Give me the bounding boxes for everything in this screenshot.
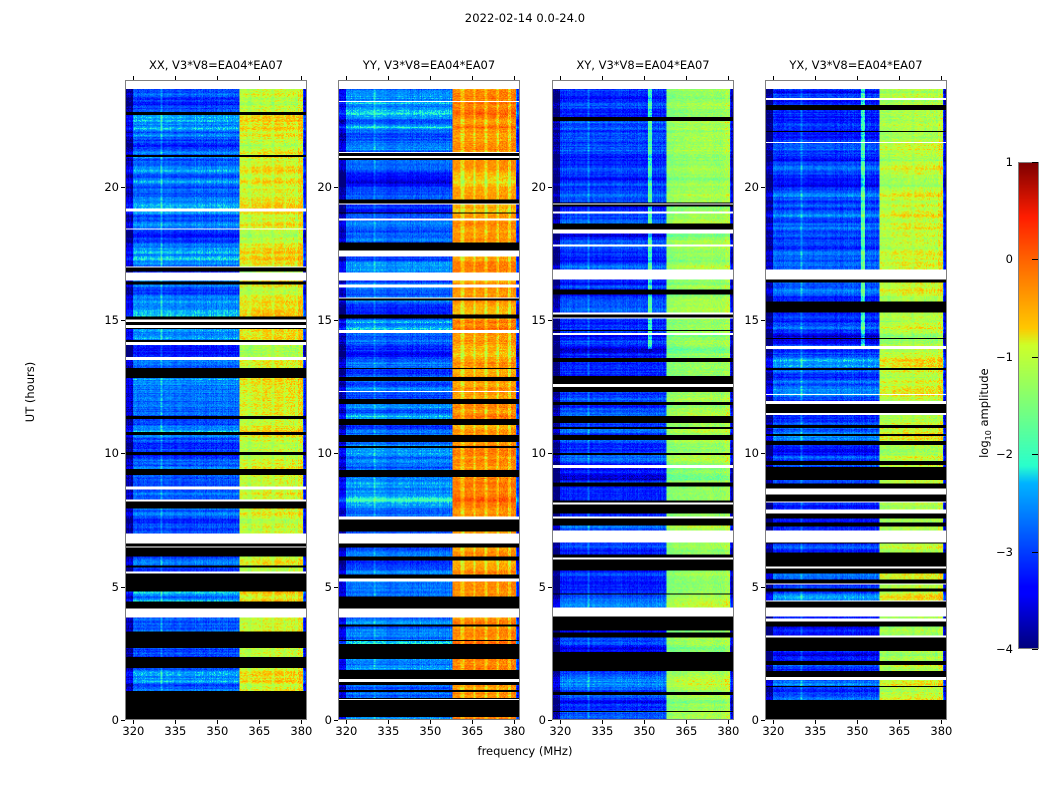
spectrogram-panel-yy[interactable] xyxy=(338,80,520,720)
x-tick-label-p2-365: 365 xyxy=(666,724,706,738)
x-tick-mark xyxy=(259,720,260,724)
spectrogram-image-yy xyxy=(339,81,519,719)
panel-title-xy: XY, V3*V8=EA04*EA07 xyxy=(552,58,734,72)
y-tick-mark xyxy=(121,587,125,588)
spectrogram-image-xy xyxy=(553,81,733,719)
x-tick-mark xyxy=(899,720,900,724)
x-tick-mark xyxy=(560,720,561,724)
y-tick-label-p2-15: 15 xyxy=(516,313,546,327)
y-tick-label-p0-15: 15 xyxy=(89,313,119,327)
y-tick-mark xyxy=(121,453,125,454)
x-tick-mark xyxy=(430,76,431,80)
x-tick-mark xyxy=(388,76,389,80)
x-tick-label-p1-320: 320 xyxy=(326,724,366,738)
figure-canvas: 2022-02-14 0.0-24.0 XX, V3*V8=EA04*EA07 … xyxy=(0,0,1050,800)
x-tick-mark xyxy=(514,720,515,724)
x-tick-label-p1-335: 335 xyxy=(368,724,408,738)
x-tick-mark xyxy=(686,720,687,724)
spectrogram-image-xx xyxy=(126,81,306,719)
x-tick-mark xyxy=(259,76,260,80)
x-tick-mark xyxy=(472,720,473,724)
x-tick-label-p1-350: 350 xyxy=(410,724,450,738)
colorbar-tick-label-4: −3 xyxy=(983,545,1013,559)
x-tick-mark xyxy=(857,76,858,80)
colorbar-tick-label-3: −2 xyxy=(983,447,1013,461)
spectrogram-panel-xy[interactable] xyxy=(552,80,734,720)
x-tick-label-p0-320: 320 xyxy=(113,724,153,738)
x-tick-mark xyxy=(133,76,134,80)
colorbar-gradient xyxy=(1019,163,1038,648)
y-tick-label-p3-15: 15 xyxy=(729,313,759,327)
x-tick-mark xyxy=(857,720,858,724)
spectrogram-image-yx xyxy=(766,81,946,719)
x-tick-label-p1-365: 365 xyxy=(452,724,492,738)
x-tick-mark xyxy=(602,76,603,80)
colorbar-tick-mark xyxy=(1032,357,1038,358)
x-tick-mark xyxy=(472,76,473,80)
x-tick-mark xyxy=(728,76,729,80)
y-tick-label-p1-15: 15 xyxy=(302,313,332,327)
y-tick-mark xyxy=(548,187,552,188)
x-tick-mark xyxy=(388,720,389,724)
y-tick-label-p0-5: 5 xyxy=(89,580,119,594)
y-tick-label-p0-10: 10 xyxy=(89,446,119,460)
y-tick-mark xyxy=(548,720,552,721)
x-tick-mark xyxy=(217,76,218,80)
y-tick-mark xyxy=(761,587,765,588)
x-tick-mark xyxy=(644,76,645,80)
x-tick-mark xyxy=(686,76,687,80)
x-tick-mark xyxy=(815,76,816,80)
colorbar-tick-label-5: −4 xyxy=(983,642,1013,656)
y-tick-mark xyxy=(548,587,552,588)
x-tick-label-p2-380: 380 xyxy=(708,724,748,738)
x-tick-mark xyxy=(346,720,347,724)
x-tick-mark xyxy=(175,76,176,80)
spectrogram-panel-xx[interactable] xyxy=(125,80,307,720)
colorbar-tick-label-1: 0 xyxy=(983,252,1013,266)
y-tick-label-p3-5: 5 xyxy=(729,580,759,594)
x-tick-mark xyxy=(941,720,942,724)
y-tick-label-p3-20: 20 xyxy=(729,180,759,194)
panel-title-xx: XX, V3*V8=EA04*EA07 xyxy=(125,58,307,72)
colorbar-tick-label-0: 1 xyxy=(983,155,1013,169)
y-axis-label: UT (hours) xyxy=(23,332,37,452)
y-tick-mark xyxy=(761,453,765,454)
y-tick-mark xyxy=(761,187,765,188)
colorbar[interactable] xyxy=(1018,162,1039,649)
colorbar-tick-mark xyxy=(1032,259,1038,260)
x-axis-label: frequency (MHz) xyxy=(0,744,1050,758)
x-tick-mark xyxy=(602,720,603,724)
y-tick-mark xyxy=(334,720,338,721)
x-tick-label-p3-350: 350 xyxy=(837,724,877,738)
x-tick-mark xyxy=(941,76,942,80)
x-tick-label-p3-335: 335 xyxy=(795,724,835,738)
x-tick-label-p3-365: 365 xyxy=(879,724,919,738)
x-tick-label-p0-350: 350 xyxy=(197,724,237,738)
y-tick-label-p1-20: 20 xyxy=(302,180,332,194)
x-tick-mark xyxy=(728,720,729,724)
colorbar-tick-mark xyxy=(1032,454,1038,455)
x-tick-label-p0-335: 335 xyxy=(155,724,195,738)
x-tick-mark xyxy=(560,76,561,80)
colorbar-tick-mark xyxy=(1032,162,1038,163)
x-tick-label-p2-335: 335 xyxy=(582,724,622,738)
y-tick-label-p1-5: 5 xyxy=(302,580,332,594)
colorbar-label: log10 amplitude xyxy=(977,343,993,483)
x-tick-mark xyxy=(133,720,134,724)
y-tick-mark xyxy=(121,720,125,721)
figure-suptitle: 2022-02-14 0.0-24.0 xyxy=(0,11,1050,25)
colorbar-tick-label-2: −1 xyxy=(983,350,1013,364)
x-tick-mark xyxy=(815,720,816,724)
x-tick-mark xyxy=(217,720,218,724)
y-tick-label-p2-10: 10 xyxy=(516,446,546,460)
y-tick-mark xyxy=(334,320,338,321)
panel-title-yy: YY, V3*V8=EA04*EA07 xyxy=(338,58,520,72)
x-tick-mark xyxy=(301,76,302,80)
x-tick-mark xyxy=(301,720,302,724)
x-tick-label-p3-380: 380 xyxy=(921,724,961,738)
y-tick-mark xyxy=(761,320,765,321)
x-tick-label-p0-380: 380 xyxy=(281,724,321,738)
y-tick-label-p3-10: 10 xyxy=(729,446,759,460)
x-tick-label-p2-350: 350 xyxy=(624,724,664,738)
y-tick-label-p1-10: 10 xyxy=(302,446,332,460)
spectrogram-panel-yx[interactable] xyxy=(765,80,947,720)
x-tick-label-p1-380: 380 xyxy=(494,724,534,738)
y-tick-mark xyxy=(334,453,338,454)
x-tick-mark xyxy=(899,76,900,80)
x-tick-mark xyxy=(175,720,176,724)
panel-title-yx: YX, V3*V8=EA04*EA07 xyxy=(765,58,947,72)
y-tick-label-p2-20: 20 xyxy=(516,180,546,194)
y-tick-mark xyxy=(334,587,338,588)
y-tick-mark xyxy=(334,187,338,188)
x-tick-mark xyxy=(773,76,774,80)
x-tick-label-p0-365: 365 xyxy=(239,724,279,738)
x-tick-label-p3-320: 320 xyxy=(753,724,793,738)
x-tick-mark xyxy=(430,720,431,724)
y-tick-mark xyxy=(548,453,552,454)
y-tick-mark xyxy=(761,720,765,721)
x-tick-mark xyxy=(773,720,774,724)
x-tick-mark xyxy=(514,76,515,80)
x-tick-mark xyxy=(644,720,645,724)
y-tick-mark xyxy=(121,187,125,188)
colorbar-tick-mark xyxy=(1032,649,1038,650)
colorbar-tick-mark xyxy=(1032,552,1038,553)
y-tick-mark xyxy=(121,320,125,321)
y-tick-label-p0-20: 20 xyxy=(89,180,119,194)
x-tick-mark xyxy=(346,76,347,80)
y-tick-mark xyxy=(548,320,552,321)
x-tick-label-p2-320: 320 xyxy=(540,724,580,738)
y-tick-label-p2-5: 5 xyxy=(516,580,546,594)
